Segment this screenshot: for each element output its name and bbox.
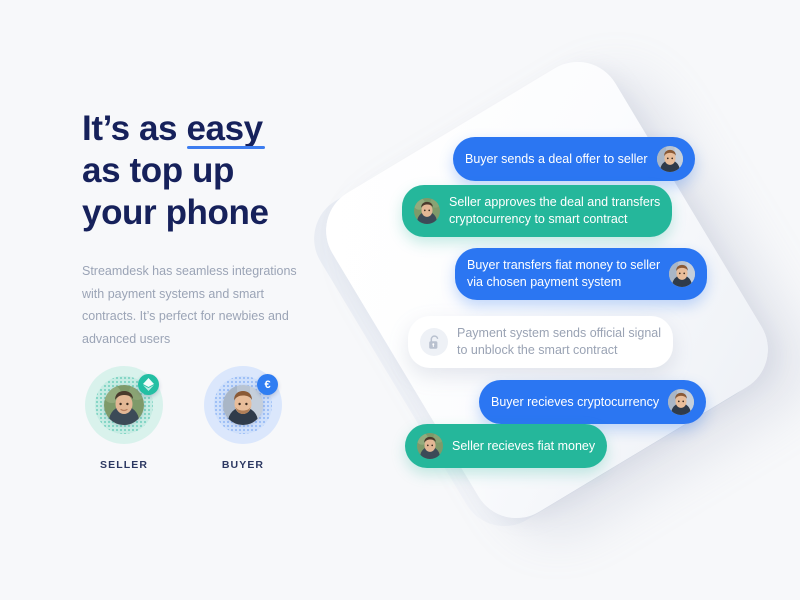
headline-emphasis-word: easy: [186, 108, 262, 150]
chat-bubble-list: Buyer sends a deal offer to seller: [330, 0, 800, 600]
headline-emphasis-text: easy: [186, 109, 262, 148]
chat-bubble[interactable]: Buyer recieves cryptocurrency: [479, 380, 706, 424]
seller-avatar: [104, 385, 144, 425]
role-avatars-group: SELLER €: [78, 366, 289, 471]
buyer-avatar: [668, 389, 694, 415]
chat-bubble-text: Buyer recieves cryptocurrency: [491, 394, 659, 411]
chat-bubble[interactable]: Buyer transfers fiat money to seller via…: [455, 248, 707, 300]
chat-bubble-text: Seller approves the deal and transfers c…: [449, 194, 660, 228]
chat-bubble-text: Buyer sends a deal offer to seller: [465, 151, 648, 168]
chat-bubble[interactable]: Buyer sends a deal offer to seller: [453, 137, 695, 181]
headline-line-1: It’s as easy: [82, 109, 263, 148]
chat-bubble[interactable]: Seller recieves fiat money: [405, 424, 607, 468]
headline-line-3: your phone: [82, 193, 269, 232]
chat-bubble-text: Seller recieves fiat money: [452, 438, 595, 455]
unlock-icon: [420, 328, 448, 356]
chat-bubble[interactable]: Payment system sends official signal to …: [408, 316, 673, 368]
role-seller[interactable]: SELLER: [78, 366, 170, 471]
buyer-avatar: [669, 261, 695, 287]
role-buyer[interactable]: € BUYER: [197, 366, 289, 471]
ethereum-icon: [143, 378, 154, 391]
headline-line-2: as top up: [82, 151, 234, 190]
headline-prefix: It’s as: [82, 109, 186, 148]
role-label-buyer: BUYER: [197, 459, 289, 471]
chat-bubble-text: Buyer transfers fiat money to seller via…: [467, 257, 660, 291]
buyer-badge-euro-icon: €: [257, 374, 278, 395]
seller-badge-ethereum-icon: [138, 374, 159, 395]
chat-scene: Buyer sends a deal offer to seller: [330, 0, 800, 600]
buyer-avatar: [657, 146, 683, 172]
chat-bubble[interactable]: Seller approves the deal and transfers c…: [402, 185, 672, 237]
seller-avatar: [414, 198, 440, 224]
role-label-seller: SELLER: [78, 459, 170, 471]
chat-bubble-text: Payment system sends official signal to …: [457, 325, 661, 359]
hero-description: Streamdesk has seamless integrations wit…: [82, 260, 307, 350]
seller-avatar-ring-outer: [85, 366, 163, 444]
seller-avatar: [417, 433, 443, 459]
buyer-avatar-ring-outer: €: [204, 366, 282, 444]
headline-underline: [187, 146, 264, 149]
buyer-avatar: [223, 385, 263, 425]
